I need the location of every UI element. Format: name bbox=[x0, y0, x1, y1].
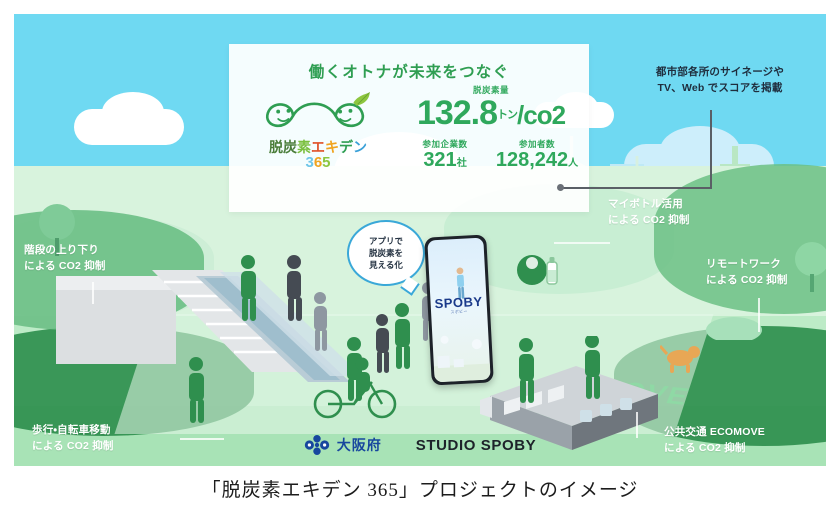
project-logo: 脱炭素エキデン 365 bbox=[243, 90, 393, 170]
bicycle-rider-icon bbox=[310, 354, 406, 420]
secondary-stat-row: 321社 bbox=[399, 150, 491, 171]
annotation-remotework-line1: リモートワーク bbox=[706, 256, 788, 272]
annotation-stairs-line1: 階段の上り下り bbox=[24, 242, 106, 258]
annotation-signage-line1: 都市部各所のサイネージや bbox=[614, 64, 826, 80]
project-illustration: ECO MOVE bbox=[14, 14, 826, 466]
my-bottle-icon bbox=[514, 246, 560, 294]
secondary-stat: 参加企業数 321社 bbox=[399, 138, 491, 171]
annotation-signage: 都市部各所のサイネージや TV、Web でスコアを掲載 bbox=[614, 64, 826, 97]
secondary-stat: 参加者数 128,242人 bbox=[491, 138, 583, 171]
phone-screen: SPOBY スポビー bbox=[427, 238, 490, 383]
partner-logos: 大阪府 STUDIO SPOBY bbox=[14, 430, 826, 460]
osaka-prefecture-logo: 大阪府 bbox=[304, 434, 382, 456]
logo-year: 365 bbox=[243, 155, 393, 170]
logo-char: キ bbox=[325, 139, 339, 155]
smartphone-mockup: SPOBY スポビー bbox=[424, 234, 494, 385]
leader-line-remotework bbox=[758, 298, 760, 332]
bubble-line-3: 見える化 bbox=[369, 259, 403, 271]
annotation-remotework-line2: による CO2 抑制 bbox=[706, 272, 788, 288]
screenshot-root: ECO MOVE bbox=[0, 0, 840, 510]
annotation-remotework: リモートワーク による CO2 抑制 bbox=[706, 256, 788, 289]
annotation-mybottle-line2: による CO2 抑制 bbox=[608, 212, 690, 228]
secondary-stat-unit: 人 bbox=[568, 158, 578, 169]
bubble-line-2: 脱炭素を bbox=[369, 247, 403, 259]
main-stat-unit-tail: /co2 bbox=[517, 100, 565, 130]
figure-caption: 「脱炭素エキデン 365」プロジェクトのイメージ bbox=[0, 475, 840, 502]
leader-line-mybottle bbox=[554, 242, 610, 244]
leader-dot-signage bbox=[557, 184, 564, 191]
logo-wordmark: 脱炭素エキデン bbox=[243, 140, 393, 155]
cloud bbox=[102, 92, 164, 132]
bubble-text: アプリで 脱炭素を 見える化 bbox=[369, 235, 403, 272]
logo-year-digit: 5 bbox=[322, 154, 330, 171]
annotation-signage-line2: TV、Web でスコアを掲載 bbox=[614, 80, 826, 96]
project-signboard: 働くオトナが未来をつなぐ 脱炭素エキデン bbox=[229, 44, 589, 212]
logo-char: エ bbox=[311, 139, 325, 155]
main-stat-value: 132.8 bbox=[417, 94, 497, 132]
logo-char: デ bbox=[339, 139, 353, 155]
dog-icon bbox=[660, 340, 706, 374]
leader-line-signage bbox=[560, 187, 712, 189]
secondary-stat-value: 321 bbox=[423, 149, 456, 171]
leader-line-signage-vert bbox=[710, 110, 712, 188]
main-stat-unit: トン bbox=[497, 110, 517, 120]
logo-char: 脱 bbox=[269, 139, 283, 155]
secondary-stat-row: 128,242人 bbox=[491, 150, 583, 171]
logo-year-digit: 3 bbox=[305, 154, 313, 171]
infinity-smile-leaf-logo-icon bbox=[259, 90, 377, 142]
logo-char: 素 bbox=[297, 139, 311, 155]
osaka-prefecture-name: 大阪府 bbox=[337, 435, 382, 455]
bubble-line-1: アプリで bbox=[369, 235, 403, 247]
stats-panel: 脱炭素量 132.8トン/co2 参加企業数 321社 参加者数 128,242… bbox=[399, 84, 583, 171]
bush-icon bbox=[704, 310, 764, 340]
people-boarding bbox=[510, 336, 630, 410]
secondary-stat-unit: 社 bbox=[457, 158, 467, 169]
osaka-prefecture-mark-icon bbox=[304, 434, 330, 456]
building-silhouette bbox=[732, 146, 738, 168]
logo-char: 炭 bbox=[283, 139, 297, 155]
app-speech-bubble: アプリで 脱炭素を 見える化 bbox=[347, 220, 425, 286]
logo-char: ン bbox=[353, 139, 367, 155]
main-stat-unit-top: トン bbox=[497, 109, 517, 121]
studio-spoby-logo: STUDIO SPOBY bbox=[416, 437, 537, 454]
annotation-stairs: 階段の上り下り による CO2 抑制 bbox=[24, 242, 106, 275]
logo-year-digit: 6 bbox=[314, 154, 322, 171]
phone-app-decor bbox=[432, 324, 491, 383]
annotation-mybottle: マイボトル活用 による CO2 抑制 bbox=[608, 196, 690, 229]
secondary-stat-value: 128,242 bbox=[496, 149, 568, 171]
annotation-mybottle-line1: マイボトル活用 bbox=[608, 196, 690, 212]
signboard-headline: 働くオトナが未来をつなぐ bbox=[229, 60, 589, 82]
leader-line-stairs bbox=[92, 282, 94, 304]
secondary-stats: 参加企業数 321社 参加者数 128,242人 bbox=[399, 138, 583, 171]
main-stat-row: 132.8トン/co2 bbox=[399, 96, 583, 130]
annotation-stairs-line2: による CO2 抑制 bbox=[24, 258, 106, 274]
tree-icon bbox=[792, 240, 826, 294]
